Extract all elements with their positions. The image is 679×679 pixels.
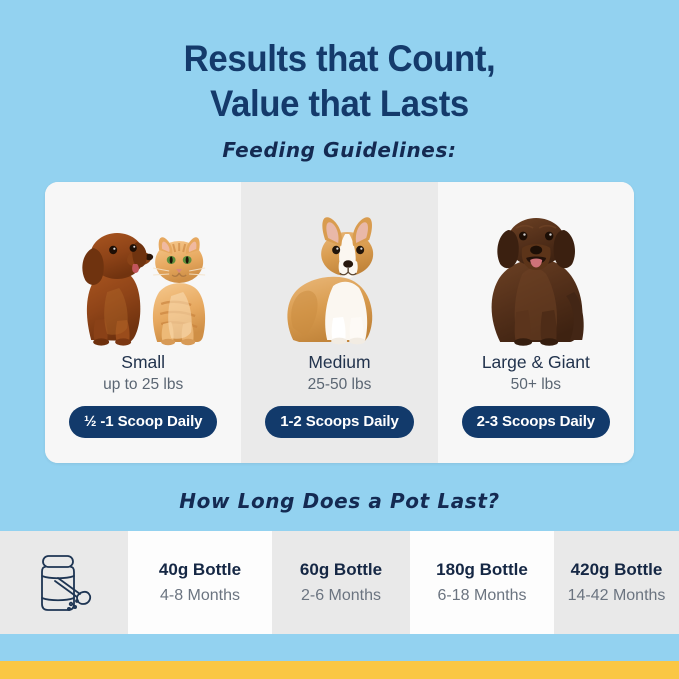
dachshund-and-orange-cat-photo: [45, 200, 241, 350]
bottle-cell-40g: 40g Bottle 4-8 Months: [128, 531, 272, 634]
weight-range-small: up to 25 lbs: [103, 375, 183, 395]
bottle-size-40g: 40g Bottle: [159, 560, 241, 580]
dose-badge-small: ½ -1 Scoop Daily: [69, 406, 217, 438]
pot-duration-subhead: How Long Does a Pot Last?: [0, 489, 679, 513]
feeding-column-large: Large & Giant 50+ lbs 2-3 Scoops Daily: [438, 182, 634, 463]
feeding-guidelines-subhead: Feeding Guidelines:: [0, 138, 679, 162]
medium-photo-wrap: [241, 182, 437, 350]
bottle-cell-60g: 60g Bottle 2-6 Months: [272, 531, 410, 634]
bottle-duration-180g: 6-18 Months: [438, 586, 527, 605]
promo-infographic: Results that Count, Value that Lasts Fee…: [0, 0, 679, 679]
jar-icon-cell: [0, 531, 128, 634]
jar-with-scoop-icon: [33, 550, 95, 616]
dose-badge-large: 2-3 Scoops Daily: [462, 406, 610, 438]
bottle-duration-60g: 2-6 Months: [301, 586, 381, 605]
yellow-accent-band: [0, 661, 679, 679]
bottle-cell-180g: 180g Bottle 6-18 Months: [410, 531, 554, 634]
bottle-duration-40g: 4-8 Months: [160, 586, 240, 605]
large-photo-wrap: [438, 182, 634, 350]
page-title-line-2: Value that Lasts: [20, 81, 658, 126]
bottle-size-60g: 60g Bottle: [300, 560, 382, 580]
dose-badge-medium: 1-2 Scoops Daily: [265, 406, 413, 438]
feeding-guidelines-card: Small up to 25 lbs ½ -1 Scoop Daily: [45, 182, 634, 463]
weight-range-medium: 25-50 lbs: [308, 375, 372, 395]
size-label-medium: Medium: [308, 352, 370, 372]
pot-duration-strip: 40g Bottle 4-8 Months 60g Bottle 2-6 Mon…: [0, 531, 679, 634]
corgi-photo: [241, 200, 437, 350]
bottle-size-420g: 420g Bottle: [571, 560, 663, 580]
page-title-line-1: Results that Count,: [20, 36, 658, 81]
small-photo-wrap: [45, 182, 241, 350]
chocolate-labrador-photo: [438, 200, 634, 350]
page-title: Results that Count, Value that Lasts: [20, 36, 658, 126]
bottle-cell-420g: 420g Bottle 14-42 Months: [554, 531, 679, 634]
feeding-column-small: Small up to 25 lbs ½ -1 Scoop Daily: [45, 182, 241, 463]
size-label-small: Small: [121, 352, 165, 372]
weight-range-large: 50+ lbs: [511, 375, 561, 395]
blue-divider-band: [0, 634, 679, 661]
size-label-large: Large & Giant: [482, 352, 590, 372]
feeding-column-medium: Medium 25-50 lbs 1-2 Scoops Daily: [241, 182, 437, 463]
bottle-duration-420g: 14-42 Months: [568, 586, 666, 605]
bottle-size-180g: 180g Bottle: [436, 560, 528, 580]
